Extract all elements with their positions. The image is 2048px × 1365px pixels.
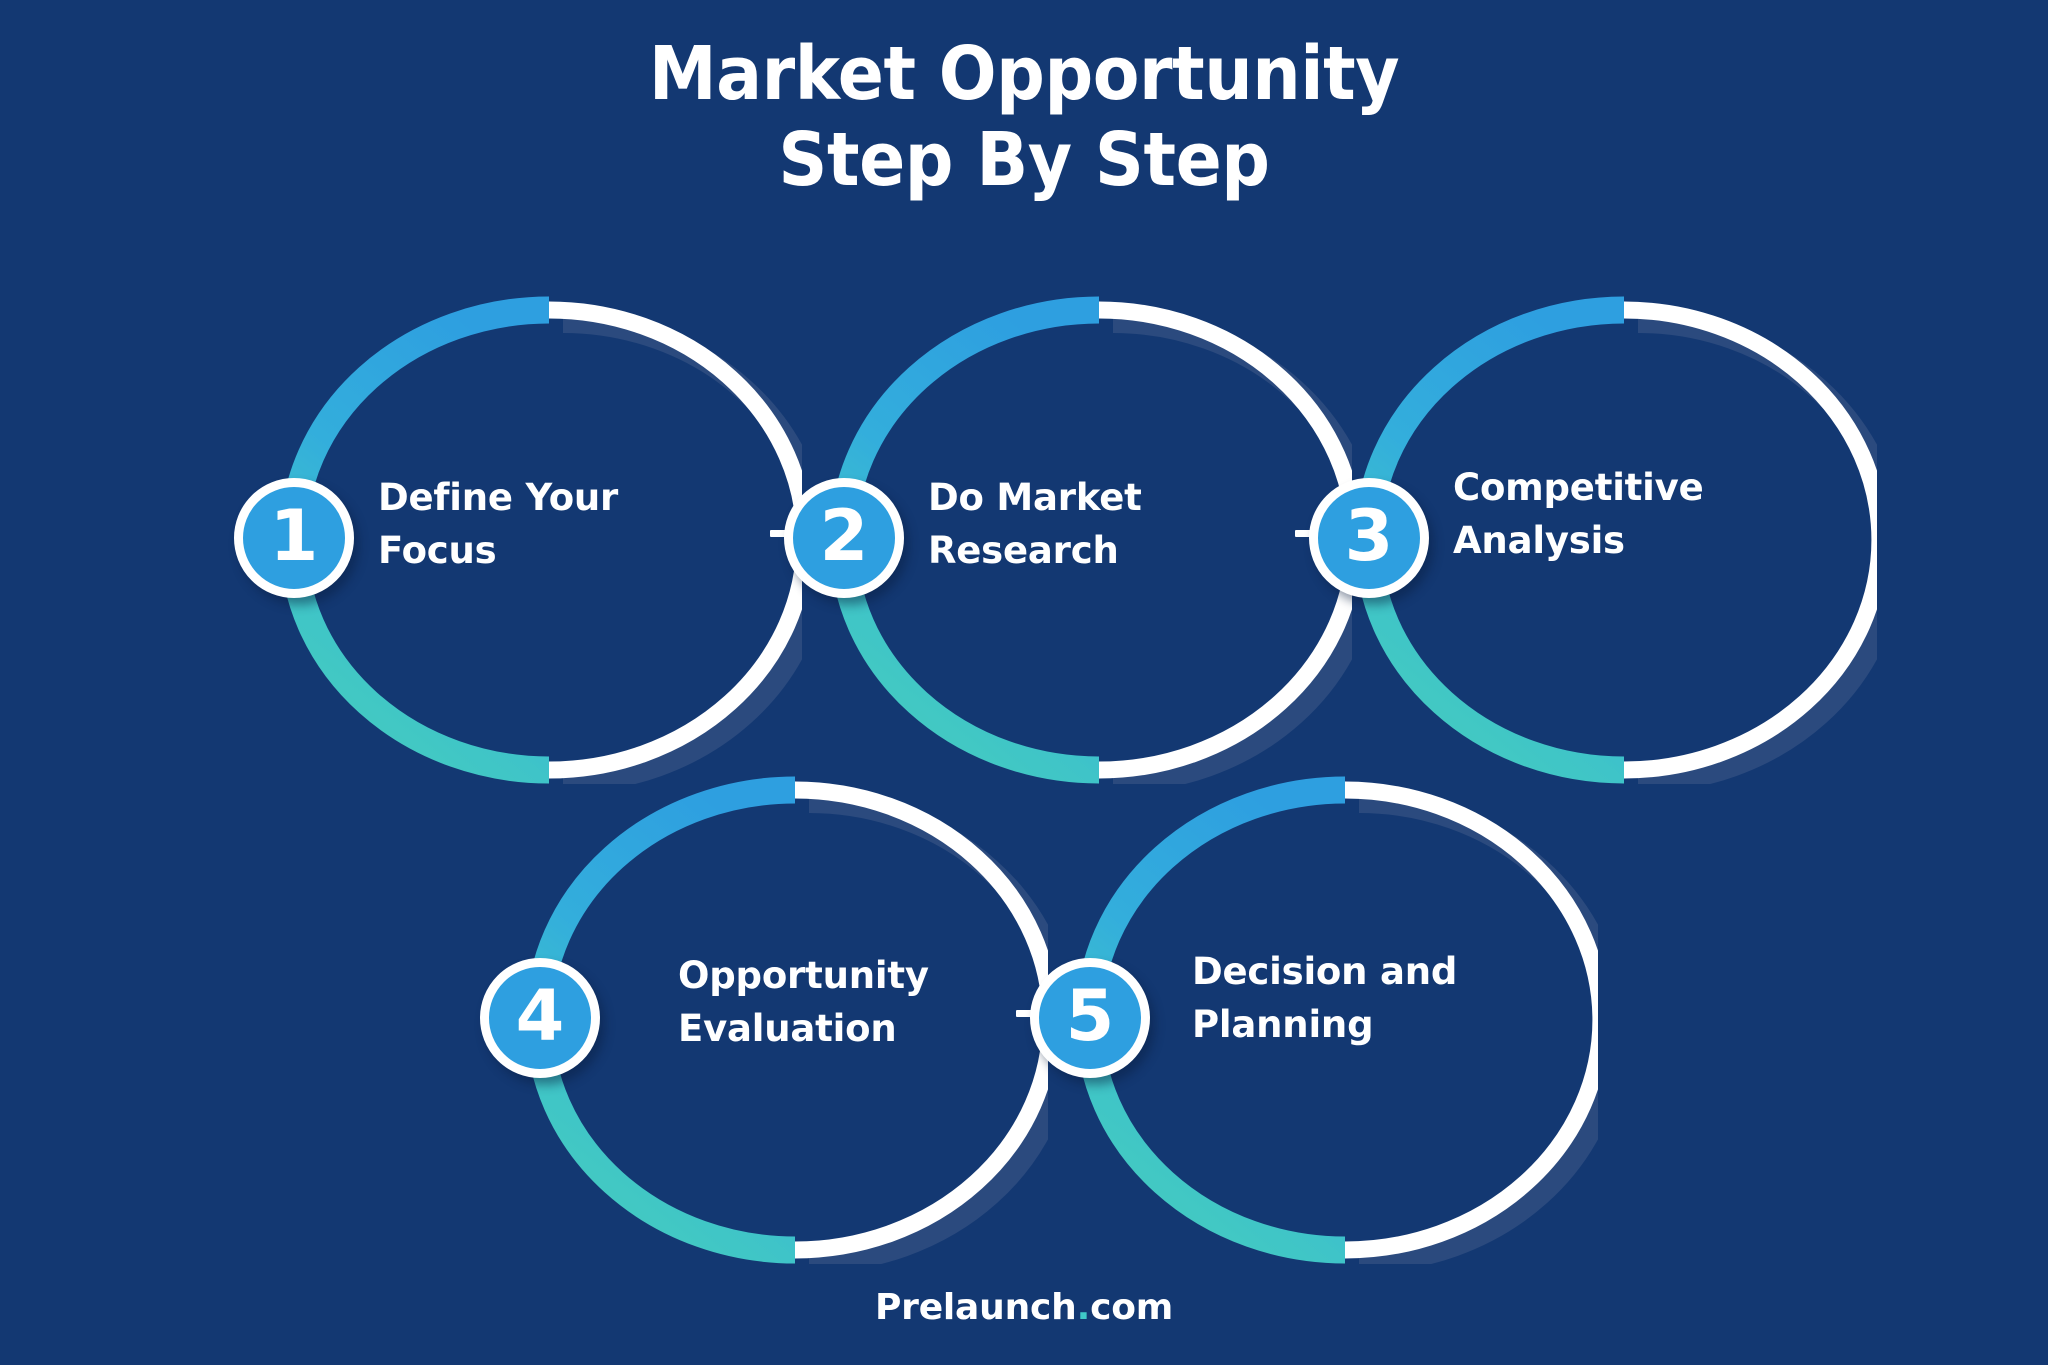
step-number-1: 1 — [270, 501, 319, 571]
step-badge-2[interactable]: 2 — [784, 478, 904, 598]
step-badge-1[interactable]: 1 — [234, 478, 354, 598]
step-node-4[interactable]: 4 Opportunity Evaluation — [508, 776, 1048, 1264]
step-label-3: Competitive Analysis — [1453, 462, 1753, 567]
step-label-2: Do Market Research — [928, 472, 1228, 577]
infographic-canvas: Market Opportunity Step By Step 1 Define… — [0, 0, 2048, 1365]
step-node-5[interactable]: 5 Decision and Planning — [1058, 776, 1598, 1264]
step-number-5: 5 — [1066, 981, 1115, 1051]
step-badge-5[interactable]: 5 — [1030, 958, 1150, 1078]
step-node-2[interactable]: 2 Do Market Research — [812, 296, 1352, 784]
title-line-2: Step By Step — [82, 118, 1966, 204]
step-number-4: 4 — [516, 981, 565, 1051]
step-label-5: Decision and Planning — [1192, 946, 1512, 1051]
step-label-4: Opportunity Evaluation — [678, 950, 998, 1055]
step-node-1[interactable]: 1 Define Your Focus — [262, 296, 802, 784]
title-line-1: Market Opportunity — [82, 32, 1966, 118]
footer-tld: com — [1090, 1287, 1173, 1328]
footer-dot: . — [1077, 1287, 1090, 1328]
footer-brand-name: Prelaunch — [875, 1287, 1077, 1328]
page-title: Market Opportunity Step By Step — [82, 32, 1966, 204]
step-number-2: 2 — [820, 501, 869, 571]
footer-brand[interactable]: Prelaunch.com — [0, 1287, 2048, 1328]
step-node-3[interactable]: 3 Competitive Analysis — [1337, 296, 1877, 784]
step-number-3: 3 — [1345, 501, 1394, 571]
step-badge-4[interactable]: 4 — [480, 958, 600, 1078]
step-badge-3[interactable]: 3 — [1309, 478, 1429, 598]
step-label-1: Define Your Focus — [378, 472, 678, 577]
